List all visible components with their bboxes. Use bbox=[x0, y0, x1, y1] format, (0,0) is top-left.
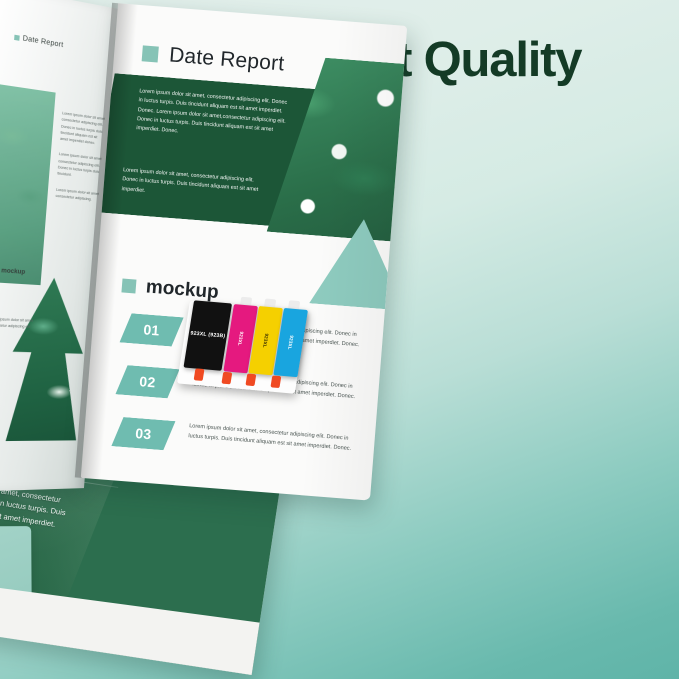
yellow-cartridge-label: 923XL bbox=[262, 333, 269, 348]
mockup-badge-number: 03 bbox=[135, 425, 152, 442]
left-page-mockup-body: Lorem ipsum dolor sit amet consectetur a… bbox=[0, 316, 34, 338]
ink-cartridge-cluster: 923XL (923B) 923XL 923XL 923XL bbox=[175, 286, 320, 413]
date-report-heading-text: Date Report bbox=[168, 43, 285, 76]
left-page-photo bbox=[0, 84, 56, 285]
magenta-cartridge-label: 923XL bbox=[237, 331, 244, 346]
square-bullet-icon bbox=[121, 278, 136, 293]
left-page-paragraph-1: Lorem ipsum dolor sit amet consectetur a… bbox=[60, 110, 108, 148]
cyan-cartridge-label: 923XL bbox=[287, 335, 294, 350]
black-cartridge-label: 923XL (923B) bbox=[190, 331, 226, 341]
mockup-badge-01: 01 bbox=[120, 313, 184, 348]
square-bullet-icon bbox=[14, 35, 20, 41]
cartridge-foot-cyan bbox=[270, 375, 281, 388]
mockup-badge-03: 03 bbox=[111, 416, 175, 451]
mockup-badge-number: 02 bbox=[139, 373, 156, 390]
right-book-spread: Date Report Lorem ipsum dolor sit amet c… bbox=[0, 0, 399, 510]
promo-image-stage: Consistent Print Quality Great results o… bbox=[0, 0, 679, 679]
left-page-paragraph-2: Lorem ipsum dolor sit amet consectetur a… bbox=[57, 151, 104, 182]
cartridge-foot-magenta bbox=[221, 372, 232, 385]
mockup-badge-number: 01 bbox=[143, 321, 160, 338]
green-block-paragraph-2: Lorem ipsum dolor sit amet, consectetur … bbox=[121, 166, 263, 205]
book-right-page: Date Report Lorem ipsum dolor sit amet, … bbox=[81, 3, 407, 500]
cartridge-foot-yellow bbox=[245, 373, 256, 386]
date-report-heading: Date Report bbox=[141, 41, 285, 76]
left-page-date-report-label: Date Report bbox=[14, 34, 64, 50]
left-page-paragraph-3: Lorem ipsum dolor sit amet consectetur a… bbox=[55, 186, 101, 203]
left-page-label-text: Date Report bbox=[22, 35, 63, 49]
left-page-column-text: Lorem ipsum dolor sit amet consectetur a… bbox=[55, 110, 108, 212]
cartridge-foot-black bbox=[194, 368, 205, 381]
square-bullet-icon bbox=[142, 45, 159, 62]
left-page-tree-graphic bbox=[6, 276, 89, 442]
mockup-badge-02: 02 bbox=[115, 364, 179, 399]
green-block-paragraph-1: Lorem ipsum dolor sit amet, consectetur … bbox=[136, 87, 289, 145]
